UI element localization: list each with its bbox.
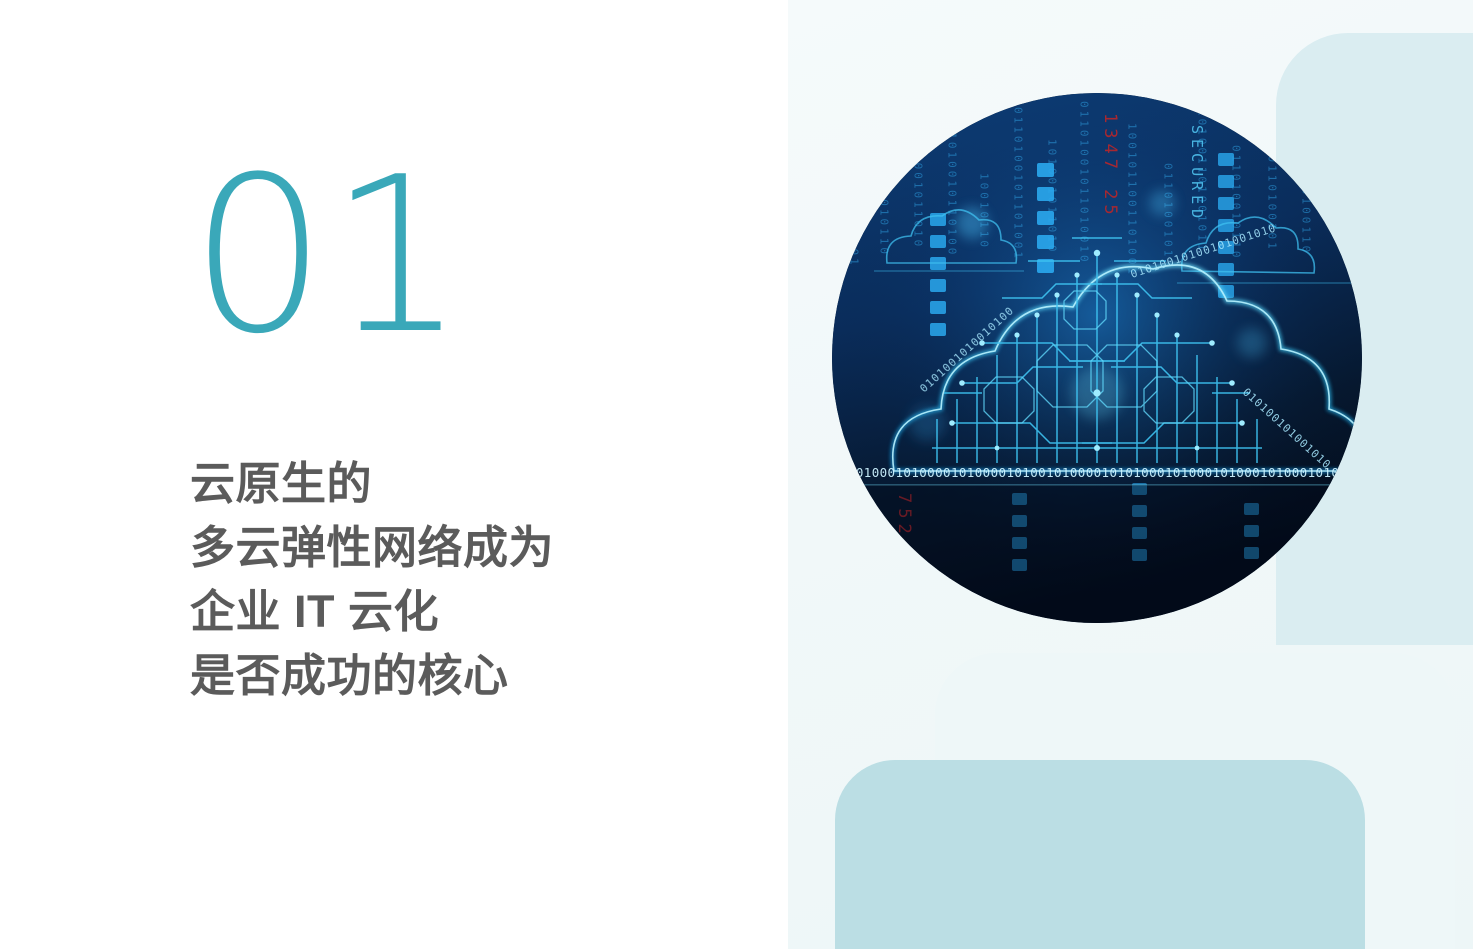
- hero-cloud-image: 10010110100101 0110100110010110 10010110…: [832, 93, 1362, 623]
- svg-text:1001011001101001: 1001011001101001: [1126, 123, 1139, 277]
- section-number: 01: [190, 148, 468, 363]
- secured-label-text: SECURED: [1188, 125, 1206, 223]
- svg-text:0110100110010110: 0110100110010110: [878, 103, 891, 257]
- headline: 云原生的 多云弹性网络成为 企业 IT 云化 是否成功的核心: [190, 452, 710, 708]
- decorative-rounded-rect-bottom: [835, 760, 1365, 949]
- right-decorative-panel: 10010110100101 0110100110010110 10010110…: [788, 0, 1473, 949]
- svg-text:011010010110100: 011010010110100: [946, 113, 959, 257]
- headline-line-3: 企业 IT 云化: [190, 580, 710, 644]
- red-digits-text: 1347 25: [1100, 113, 1120, 220]
- svg-text:01101001011010010: 01101001011010010: [1078, 101, 1091, 265]
- binary-stream-text: 0101000101000010100001010010100001010100…: [840, 465, 1362, 480]
- svg-text:0110100101101001: 0110100101101001: [1012, 107, 1025, 261]
- headline-line-2: 多云弹性网络成为: [190, 516, 710, 580]
- svg-text:1001011010: 1001011010: [912, 153, 925, 249]
- headline-line-4: 是否成功的核心: [190, 644, 710, 708]
- svg-text:10010110100101: 10010110100101: [848, 133, 861, 268]
- slide-root: 10010110100101 0110100110010110 10010110…: [0, 0, 1473, 949]
- headline-line-1: 云原生的: [190, 452, 710, 516]
